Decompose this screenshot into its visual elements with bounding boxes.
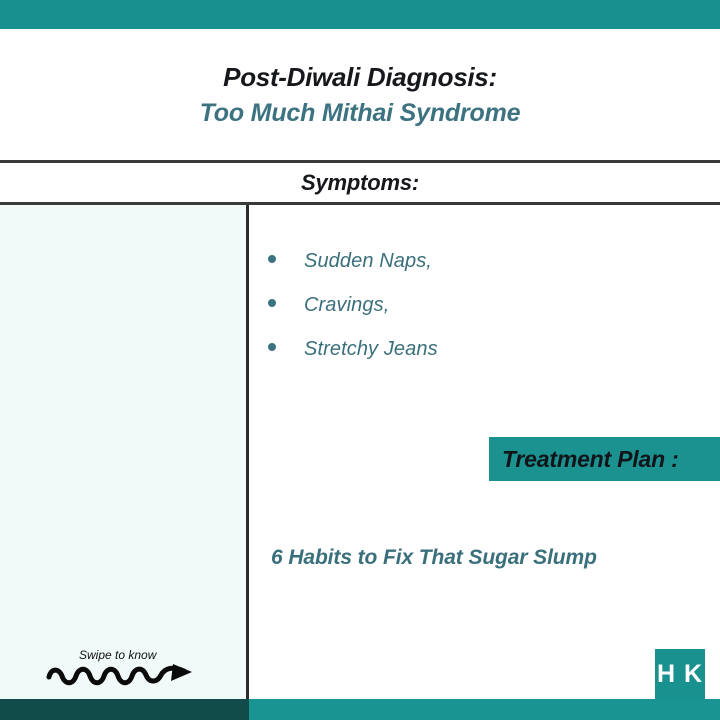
symptom-label: Sudden Naps, [304, 250, 432, 273]
list-item: Cravings, [268, 294, 688, 317]
treatment-plan-label: Treatment Plan : [489, 446, 679, 473]
page-title-secondary: Too Much Mithai Syndrome [0, 96, 720, 130]
divider-above-symptoms [0, 160, 720, 163]
bullet-dot-icon [268, 343, 276, 351]
symptoms-heading: Symptoms: [0, 170, 720, 196]
title-block: Post-Diwali Diagnosis: Too Much Mithai S… [0, 60, 720, 130]
treatment-headline: 6 Habits to Fix That Sugar Slump [271, 546, 597, 570]
top-accent-bar [0, 0, 720, 29]
bottom-accent-bar-right [249, 699, 720, 720]
left-mint-panel [0, 205, 246, 699]
symptoms-list: Sudden Naps, Cravings, Stretchy Jeans [268, 250, 688, 382]
page-title-primary: Post-Diwali Diagnosis: [0, 60, 720, 94]
vertical-divider [246, 205, 249, 699]
swipe-hint-label: Swipe to know [79, 648, 156, 662]
hk-logo-text: H K [657, 662, 703, 687]
squiggly-arrow-right-icon [45, 662, 200, 696]
bullet-dot-icon [268, 255, 276, 263]
swipe-hint: Swipe to know [45, 648, 205, 698]
treatment-plan-badge: Treatment Plan : [489, 437, 720, 481]
list-item: Stretchy Jeans [268, 338, 688, 361]
symptom-label: Stretchy Jeans [304, 338, 438, 361]
slide-canvas: Post-Diwali Diagnosis: Too Much Mithai S… [0, 0, 720, 720]
hk-logo: H K [655, 649, 705, 699]
symptom-label: Cravings, [304, 294, 389, 317]
list-item: Sudden Naps, [268, 250, 688, 273]
bottom-accent-bar-left [0, 699, 249, 720]
bullet-dot-icon [268, 299, 276, 307]
